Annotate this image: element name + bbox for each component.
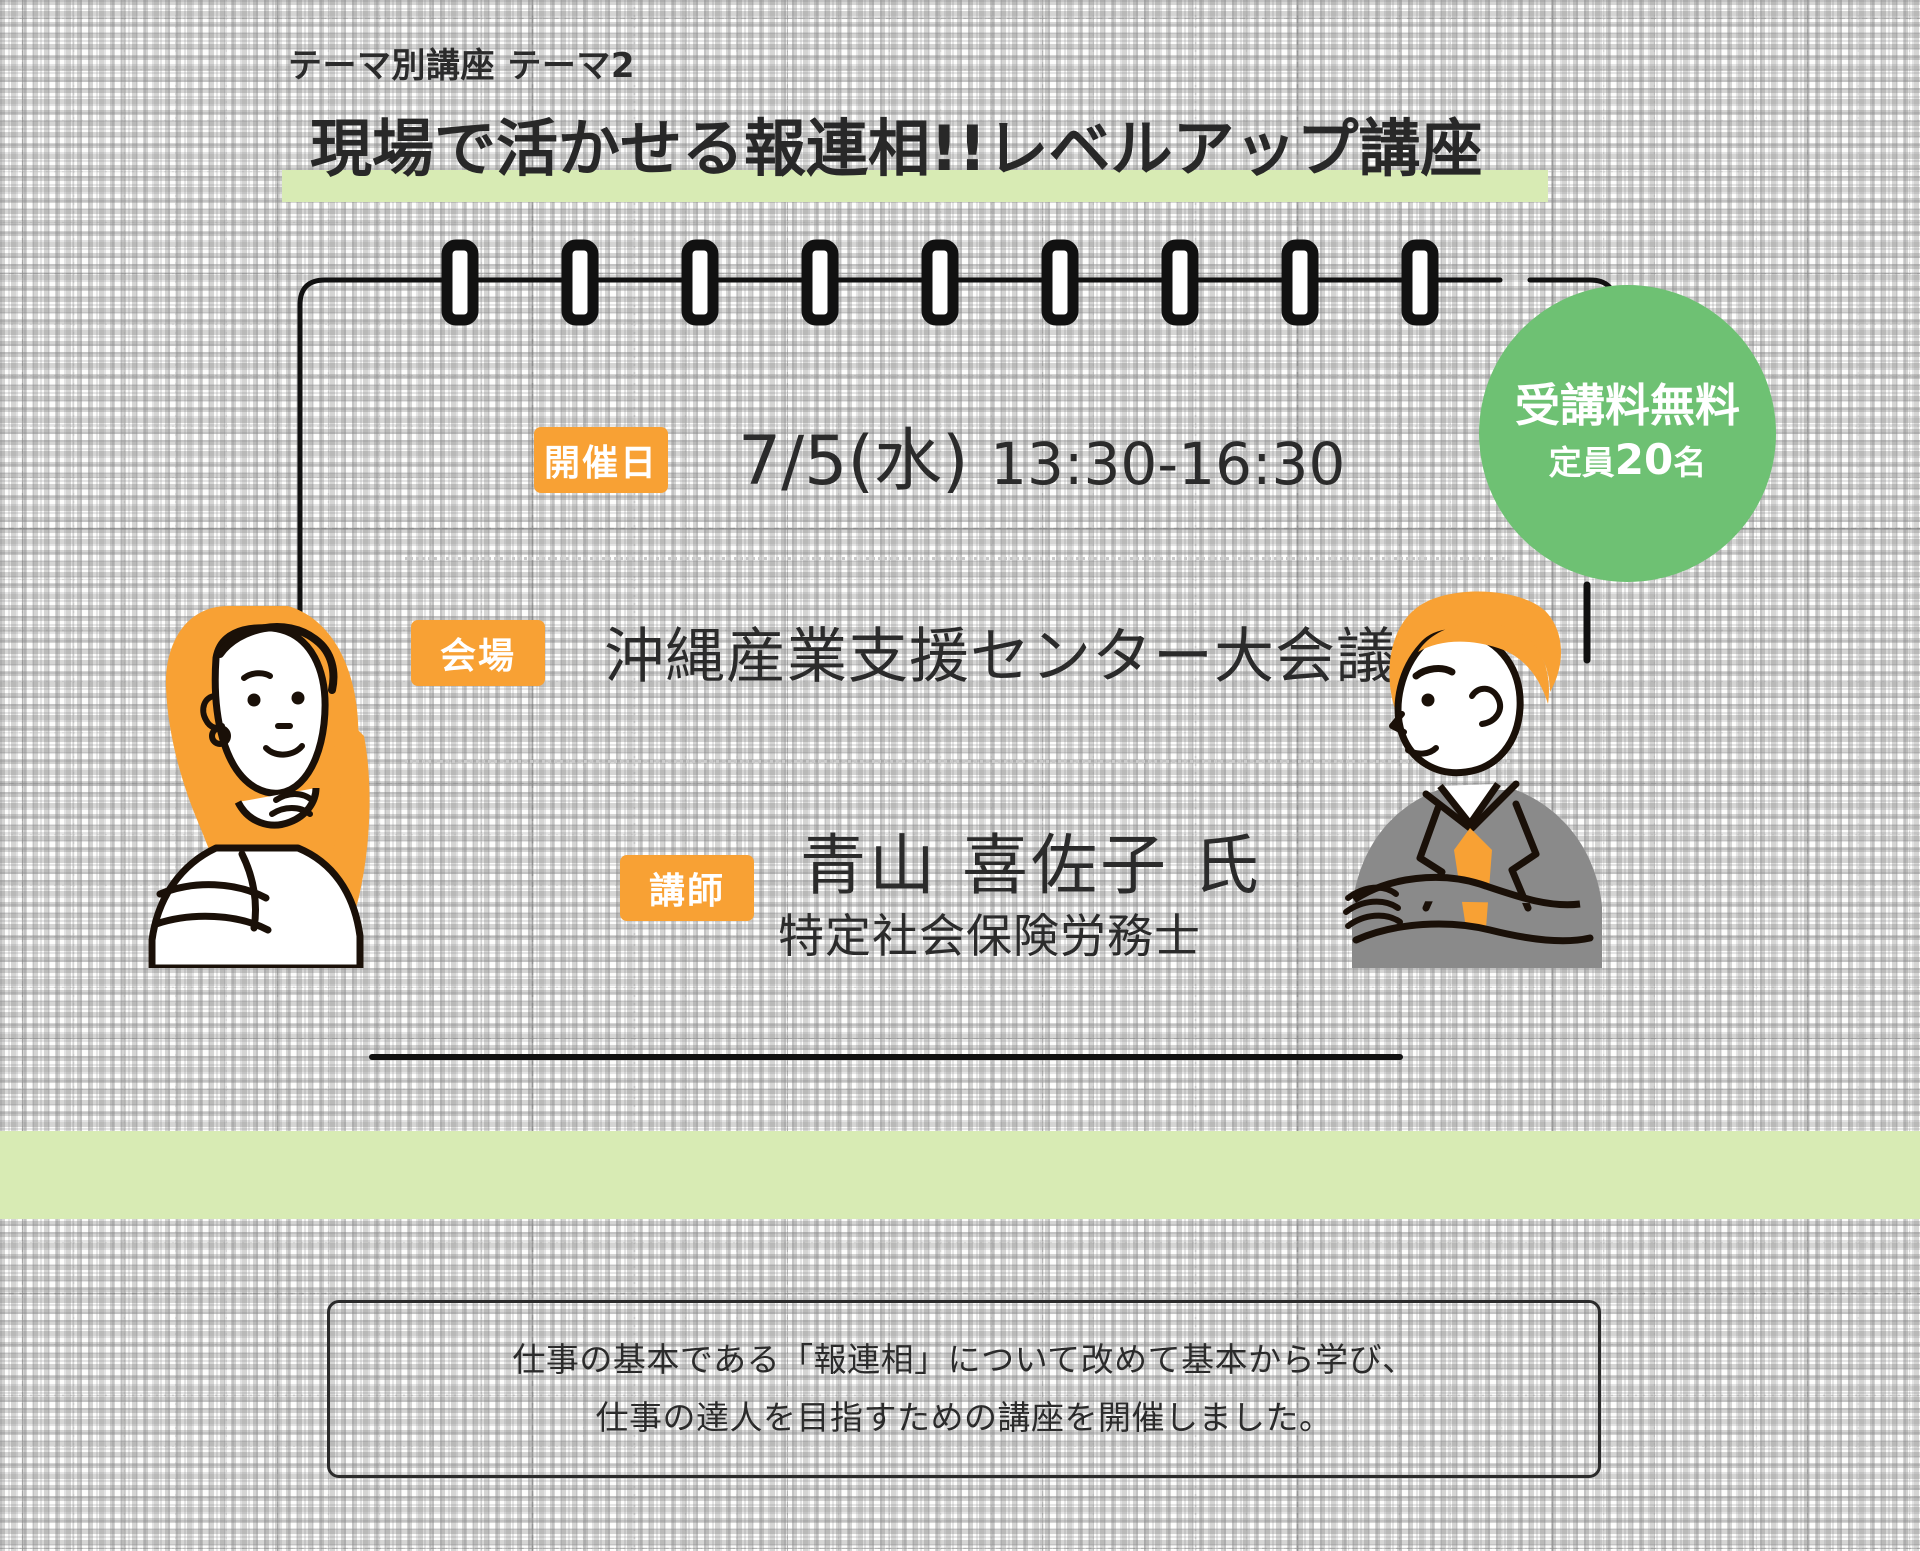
badge-capacity-number: 20 bbox=[1615, 435, 1673, 484]
value-date-time: 13:30-16:30 bbox=[990, 430, 1345, 498]
title-text: 現場で活かせる報連相!!レベルアップ講座 bbox=[282, 118, 1483, 180]
badge-capacity-prefix: 定員 bbox=[1549, 443, 1615, 482]
fence-tick bbox=[1047, 245, 1073, 320]
fence-ticks bbox=[447, 245, 1433, 320]
value-date: 7/5(水) 13:30-16:30 bbox=[738, 405, 1345, 504]
page-title: 現場で活かせる報連相!!レベルアップ講座 bbox=[282, 118, 1483, 194]
tag-date: 開催日 bbox=[534, 427, 668, 493]
fence-tick bbox=[807, 245, 833, 320]
fence-tick bbox=[1167, 245, 1193, 320]
woman-thinking-illustration bbox=[120, 548, 410, 968]
description-line-1: 仕事の基本である「報連相」について改めて基本から学び、 bbox=[512, 1331, 1415, 1389]
badge-capacity-label: 定員20名 bbox=[1549, 435, 1706, 485]
seminar-poster: テーマ別講座 テーマ2 現場で活かせる報連相!!レベルアップ講座 受講料無料 bbox=[0, 0, 1920, 1551]
eye bbox=[1422, 694, 1435, 707]
description-box: 仕事の基本である「報連相」について改めて基本から学び、 仕事の達人を目指すための… bbox=[327, 1300, 1601, 1478]
green-floor-band bbox=[0, 1131, 1920, 1219]
fence-tick bbox=[447, 245, 473, 320]
face bbox=[215, 628, 325, 794]
badge-free-label: 受講料無料 bbox=[1515, 382, 1740, 429]
eye-left bbox=[248, 694, 261, 707]
eye-right bbox=[292, 692, 305, 705]
fence-tick bbox=[927, 245, 953, 320]
fence-tick bbox=[567, 245, 593, 320]
fence-tick bbox=[1407, 245, 1433, 320]
value-date-main: 7/5(水) bbox=[738, 422, 969, 501]
value-lecturer-title: 特定社会保険労務士 bbox=[778, 900, 1201, 966]
tag-venue: 会場 bbox=[411, 620, 545, 686]
fence-tick bbox=[687, 245, 713, 320]
tag-lecturer: 講師 bbox=[620, 855, 754, 921]
kicker-text: テーマ別講座 テーマ2 bbox=[288, 38, 635, 87]
badge-capacity-suffix: 名 bbox=[1673, 443, 1706, 482]
businessman-arms-crossed-illustration bbox=[1330, 528, 1630, 968]
fence-tick bbox=[1287, 245, 1313, 320]
value-lecturer-name: 青山 喜佐子 氏 bbox=[800, 812, 1262, 908]
description-line-2: 仕事の達人を目指すための講座を開催しました。 bbox=[596, 1389, 1333, 1447]
